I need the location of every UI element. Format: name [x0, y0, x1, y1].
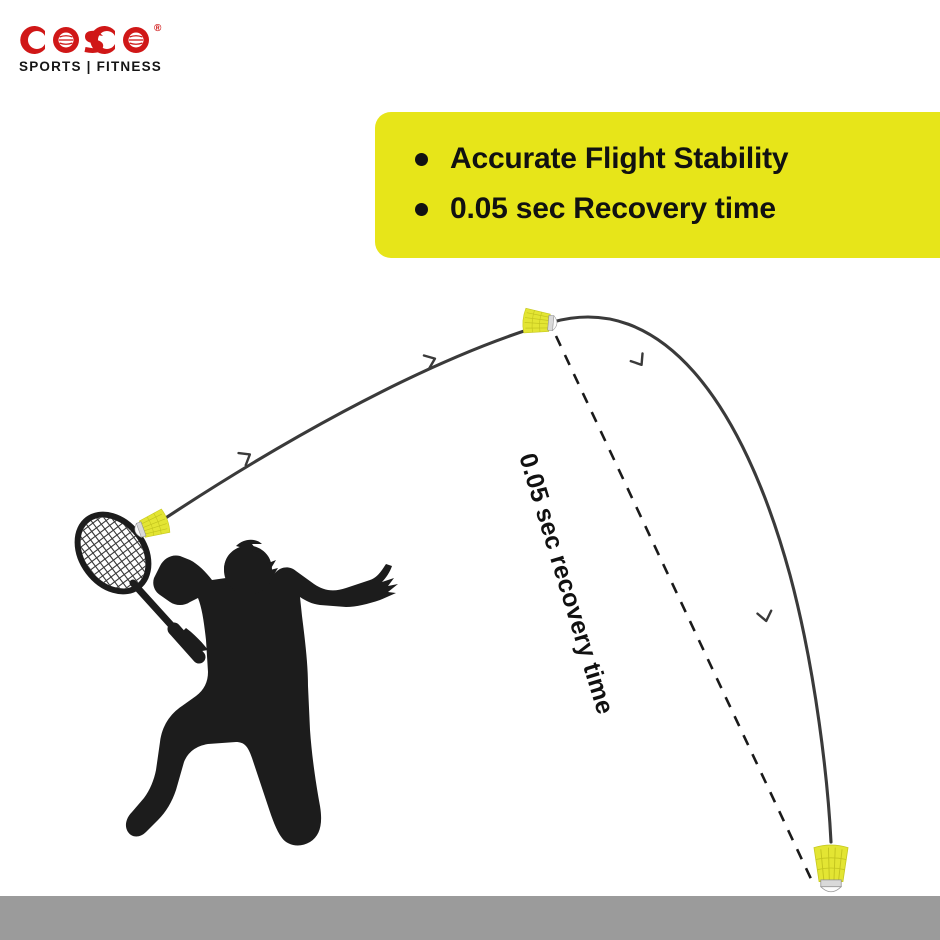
direction-arrow-marker: [757, 611, 773, 623]
infographic-page: ® SPORTS | FITNESS Accurate Flight Stabi…: [0, 0, 940, 940]
recovery-dashed-line: [556, 336, 812, 881]
player-silhouette: [126, 540, 398, 846]
floor-bar: [0, 896, 940, 940]
shuttle-at-apex: [522, 308, 558, 336]
shuttle-at-landing: [814, 845, 848, 892]
direction-arrow-marker: [631, 353, 648, 368]
flight-trajectory-diagram: [0, 0, 940, 940]
